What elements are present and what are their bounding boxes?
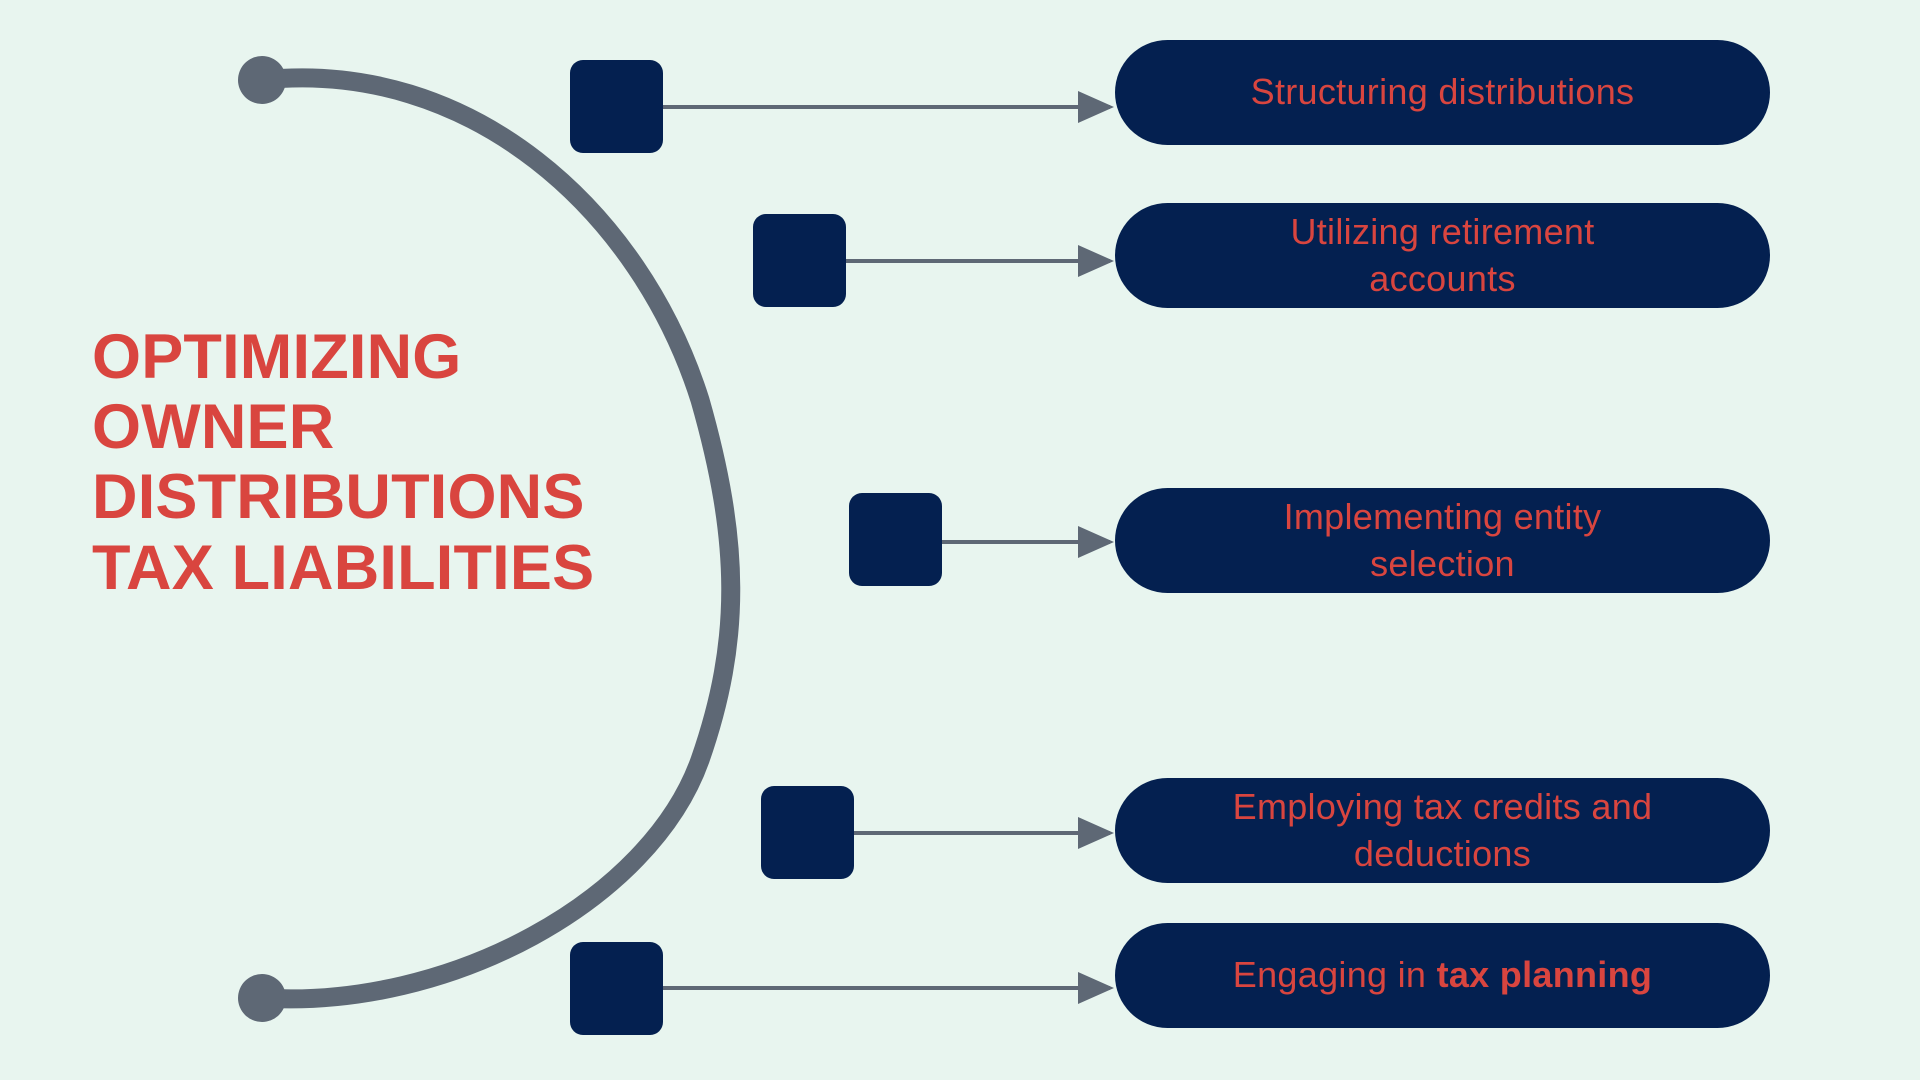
- step-pill-label-4: Employing tax credits anddeductions: [1233, 784, 1653, 876]
- spine-curve-group: [238, 56, 731, 1022]
- step-pill-label-1: Structuring distributions: [1251, 69, 1635, 115]
- step-pill-3[interactable]: Implementing entityselection: [1115, 488, 1770, 593]
- step-pill-label-2: Utilizing retirementaccounts: [1290, 209, 1594, 301]
- step-pill-label-5: Engaging in tax planning: [1233, 952, 1652, 998]
- spine-curve: [262, 78, 731, 999]
- step-pill-label-emphasis-5: tax planning: [1437, 954, 1653, 995]
- node-square-5[interactable]: [570, 942, 663, 1035]
- curve-end-dot: [238, 974, 286, 1022]
- node-square-3[interactable]: [849, 493, 942, 586]
- step-pill-4[interactable]: Employing tax credits anddeductions: [1115, 778, 1770, 883]
- step-pill-2[interactable]: Utilizing retirementaccounts: [1115, 203, 1770, 308]
- step-pill-label-3: Implementing entityselection: [1284, 494, 1602, 586]
- step-pill-5[interactable]: Engaging in tax planning: [1115, 923, 1770, 1028]
- node-square-4[interactable]: [761, 786, 854, 879]
- node-square-1[interactable]: [570, 60, 663, 153]
- node-square-2[interactable]: [753, 214, 846, 307]
- curve-start-dot: [238, 56, 286, 104]
- step-pill-1[interactable]: Structuring distributions: [1115, 40, 1770, 145]
- infographic-canvas: OPTIMIZING OWNER DISTRIBUTIONS TAX LIABI…: [0, 0, 1920, 1080]
